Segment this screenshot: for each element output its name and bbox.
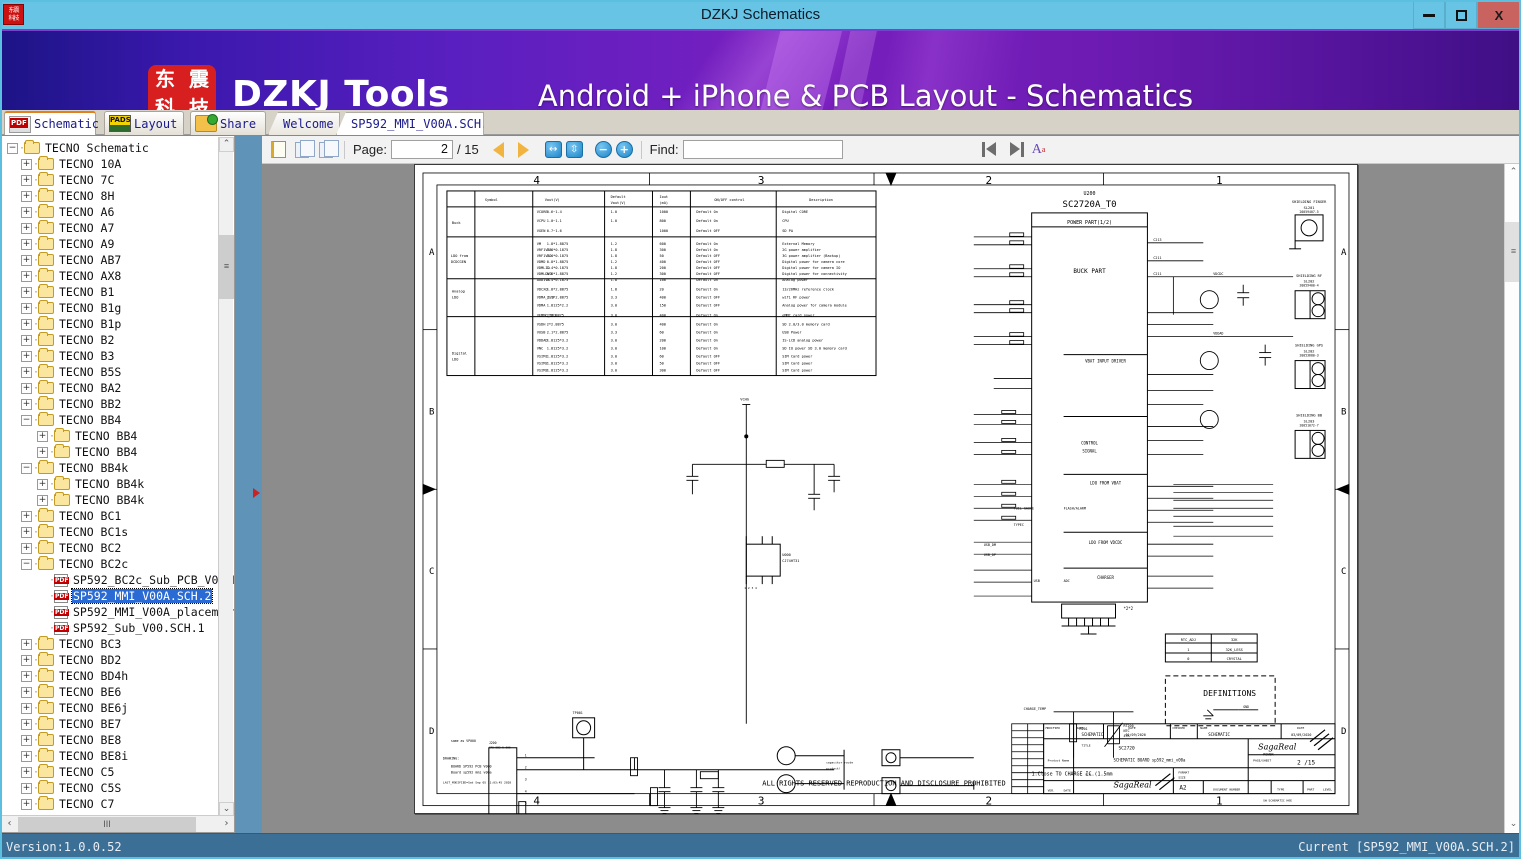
svg-text:TITLE: TITLE [1082, 744, 1091, 748]
folder-icon [38, 398, 54, 410]
svg-text:1.8125*3.2: 1.8125*3.2 [547, 355, 569, 359]
folder-icon [38, 686, 54, 698]
expand-icon[interactable]: + [21, 319, 32, 330]
tree-node[interactable]: +·TECNO BE8 [5, 732, 234, 748]
svg-text:Default On: Default On [696, 210, 718, 214]
tree-node-label: TECNO BD4h [58, 669, 129, 683]
svg-text:SCHEMATIC: SCHEMATIC [1082, 732, 1104, 737]
window-controls: X [1413, 0, 1521, 31]
svg-text:LDO FROM VDCDC: LDO FROM VDCDC [1089, 540, 1123, 545]
svg-text:3.0: 3.0 [611, 323, 617, 327]
pads-icon [109, 115, 131, 132]
tree-node[interactable]: +·TECNO BC3 [5, 636, 234, 652]
svg-text:3.3: 3.3 [611, 296, 617, 300]
expand-icon[interactable]: + [21, 207, 32, 218]
folder-icon [54, 446, 70, 458]
svg-text:1.4*0.1875: 1.4*0.1875 [547, 254, 569, 258]
svg-text:USB_DP: USB_DP [984, 553, 996, 557]
svg-text:1: 1 [1187, 648, 1189, 652]
close-button[interactable]: X [1477, 1, 1521, 29]
tree-node[interactable]: +·TECNO BC2 [5, 540, 234, 556]
expand-icon[interactable]: + [37, 447, 48, 458]
expand-icon[interactable]: + [21, 383, 32, 394]
expand-icon[interactable]: + [21, 271, 32, 282]
svg-text:CF0-5B2-5-000: CF0-5B2-5-000 [489, 746, 511, 750]
svg-text:wifi RF power: wifi RF power [782, 296, 811, 300]
tree-node[interactable]: +·TECNO C5 [5, 764, 234, 780]
svg-text:Default OFF: Default OFF [696, 362, 720, 366]
svg-text:300: 300 [659, 248, 665, 252]
tree-node[interactable]: +·TECNO B2 [5, 332, 234, 348]
svg-text:1.8125*3.2: 1.8125*3.2 [547, 339, 569, 343]
svg-text:1.8*1.8875: 1.8*1.8875 [547, 242, 569, 246]
folder-icon [38, 734, 54, 746]
svg-text:VGEN: VGEN [537, 229, 546, 233]
svg-text:GND: GND [1243, 705, 1249, 709]
tree-node[interactable]: +·TECNO 7C [5, 172, 234, 188]
svg-text:FLASH/ALARM: FLASH/ALARM [1064, 506, 1086, 510]
svg-text:FORMAT: FORMAT [1178, 771, 1189, 775]
svg-text:LDO: LDO [452, 296, 458, 300]
svg-text:A: A [429, 248, 435, 258]
text-select-sup: a [1042, 145, 1046, 154]
svg-text:CONTROL: CONTROL [1081, 440, 1098, 445]
tree-node-label: TECNO C5S [58, 781, 122, 795]
svg-text:LDO FROM VBAT: LDO FROM VBAT [1090, 480, 1122, 485]
svg-text:20051072-7: 20051072-7 [1299, 423, 1318, 427]
tree-node-label: TECNO BB4k [74, 477, 145, 491]
svg-text:Default OFF: Default OFF [696, 296, 720, 300]
svg-text:800: 800 [659, 219, 665, 223]
svg-text:ON/OFF control: ON/OFF control [714, 198, 744, 202]
pdf-icon [9, 116, 31, 133]
svg-text:2*2.8875: 2*2.8875 [547, 323, 564, 327]
svg-text:CRYSTAL: CRYSTAL [1227, 657, 1242, 661]
folder-icon [38, 382, 54, 394]
expand-icon[interactable]: + [21, 671, 32, 682]
folder-icon [38, 526, 54, 538]
svg-text:USB_DM: USB_DM [984, 543, 996, 547]
expand-icon[interactable]: + [21, 223, 32, 234]
svg-text:2*2.8875: 2*2.8875 [547, 314, 564, 318]
svg-text:13/26MHz reference clock: 13/26MHz reference clock [782, 288, 835, 292]
svg-text:100: 100 [659, 278, 665, 282]
tree-scroll-thumb[interactable]: ≡ [219, 235, 234, 299]
folder-icon [38, 190, 54, 202]
svg-text:Iout: Iout [659, 195, 668, 199]
folder-icon [54, 478, 70, 490]
pdf-file-icon [54, 606, 68, 619]
svg-text:Analog power for camera module: Analog power for camera module [782, 304, 847, 308]
tree-node[interactable]: +·TECNO BD4h [5, 668, 234, 684]
expand-icon[interactable]: + [37, 495, 48, 506]
svg-text:2.1*2.8875: 2.1*2.8875 [547, 331, 569, 335]
svg-text:protect!: protect! [826, 767, 841, 771]
svg-text:3: 3 [758, 174, 765, 187]
schematic-page: 4 3 2 1 4 3 2 1 A B C D A B C [414, 164, 1358, 814]
expand-icon[interactable]: + [37, 479, 48, 490]
svg-text:USB Power: USB Power [782, 331, 802, 335]
file-tree[interactable]: −·TECNO Schematic+·TECNO 10A+·TECNO 7C+·… [1, 136, 234, 812]
svg-text:Digital power for connectivity: Digital power for connectivity [782, 272, 847, 276]
tree-node[interactable]: +·TECNO B1g [5, 300, 234, 316]
tree-node-label: TECNO BC1 [58, 509, 122, 523]
tree-node[interactable]: +·TECNO B5S [5, 364, 234, 380]
minimize-button[interactable] [1413, 1, 1445, 29]
svg-text:PART: PART [1307, 788, 1314, 792]
expand-icon[interactable]: + [21, 783, 32, 794]
svg-text:Product Name: Product Name [1048, 759, 1070, 763]
doc-tab-welcome-label: Welcome [283, 117, 334, 131]
maximize-button[interactable] [1445, 1, 1477, 29]
folder-icon [38, 766, 54, 778]
tree-node[interactable]: +·TECNO BB4k [5, 492, 234, 508]
expand-icon[interactable]: + [21, 751, 32, 762]
svg-text:3.0: 3.0 [611, 355, 617, 359]
page-input[interactable]: 2 [391, 140, 453, 159]
viewer-vertical-scrollbar[interactable]: ⌃ ≡ ⌄ [1504, 164, 1521, 833]
expand-icon[interactable]: + [21, 351, 32, 362]
folder-icon [54, 430, 70, 442]
svg-text:400: 400 [659, 260, 665, 264]
svg-text:1.8: 1.8 [611, 248, 617, 252]
expand-icon[interactable]: + [21, 703, 32, 714]
svg-text:SIM Card power: SIM Card power [782, 369, 813, 373]
tab-layout[interactable]: Layout [104, 111, 184, 135]
file-tree-panel: −·TECNO Schematic+·TECNO 10A+·TECNO 7C+·… [0, 136, 235, 833]
svg-text:Digital CORE: Digital CORE [782, 210, 808, 214]
svg-text:VDCDC: VDCDC [1213, 272, 1223, 276]
fit-width-icon[interactable]: ↔ [545, 141, 562, 158]
tree-node[interactable]: +·TECNO BE6j [5, 700, 234, 716]
svg-text:CHARGER: CHARGER [1097, 575, 1114, 580]
status-current-file: Current [SP592_MMI_V00A.SCH.2] [1298, 840, 1515, 854]
tree-node-root[interactable]: −·TECNO Schematic [5, 140, 234, 156]
expand-icon[interactable]: + [21, 255, 32, 266]
scroll-left-icon[interactable]: ‹ [1, 816, 18, 832]
tree-horizontal-scrollbar[interactable]: ‹ III › [1, 815, 235, 832]
svg-text:2.1*2.8875: 2.1*2.8875 [547, 296, 569, 300]
svg-text:1.4*0.1875: 1.4*0.1875 [547, 266, 569, 270]
viewer-scroll-thumb[interactable]: ≡ [1505, 222, 1521, 282]
expand-icon[interactable]: + [21, 543, 32, 554]
previous-page-arrow-icon[interactable] [493, 142, 504, 158]
svg-text:FUEL GAUGE: FUEL GAUGE [1014, 506, 1034, 510]
svg-text:SagaReal: SagaReal [1258, 743, 1297, 752]
svg-text:LEVEL: LEVEL [1323, 788, 1332, 792]
tree-node[interactable]: +·TECNO BB4 [5, 428, 234, 444]
svg-text:1.8: 1.8 [611, 254, 617, 258]
svg-text:1.8125*2.2: 1.8125*2.2 [547, 304, 569, 308]
status-version: Version:1.0.0.52 [6, 840, 122, 854]
tree-node[interactable]: +·TECNO AX8 [5, 268, 234, 284]
viewer-scroll-up-icon[interactable]: ⌃ [1505, 164, 1521, 181]
banner-subtitle-text: Android + iPhone & PCB Layout - Schemati… [328, 79, 1193, 110]
collapse-icon[interactable]: − [21, 559, 32, 570]
tree-node[interactable]: +·TECNO BB4k [5, 476, 234, 492]
svg-text:Default On: Default On [696, 248, 718, 252]
expand-icon[interactable]: + [21, 735, 32, 746]
expand-icon[interactable]: + [21, 191, 32, 202]
tree-node[interactable]: +·TECNO BC1 [5, 508, 234, 524]
tree-node[interactable]: ·SP592_MMI_V00A_placement [5, 604, 234, 620]
svg-text:VER.: VER. [1048, 789, 1055, 793]
svg-text:1.8: 1.8 [611, 288, 617, 292]
svg-text:VDMA: VDMA [537, 304, 546, 308]
collapse-icon[interactable]: − [21, 463, 32, 474]
svg-text:DEFINITIONS: DEFINITIONS [1203, 689, 1256, 698]
tree-node[interactable]: +·TECNO B3 [5, 348, 234, 364]
svg-text:Default On: Default On [696, 347, 718, 351]
tree-node[interactable]: −·TECNO BC2c [5, 556, 234, 572]
svg-text:Default OFF: Default OFF [696, 266, 720, 270]
text-select-icon[interactable]: Aa [1029, 140, 1049, 160]
zoom-in-button[interactable]: + [616, 141, 633, 158]
svg-text:same as VP000: same as VP000 [451, 739, 476, 743]
expand-icon[interactable]: + [21, 719, 32, 730]
expand-icon[interactable]: + [21, 239, 32, 250]
svg-text:CHARGE_TEMP: CHARGE_TEMP [1024, 707, 1046, 711]
expand-icon[interactable]: + [21, 399, 32, 410]
folder-icon [38, 238, 54, 250]
expand-icon[interactable]: + [21, 639, 32, 650]
tree-node-label: TECNO BC2c [58, 557, 129, 571]
folder-icon [38, 670, 54, 682]
tree-node-label: TECNO BB4 [74, 429, 138, 443]
expand-icon[interactable]: + [21, 303, 32, 314]
tree-node[interactable]: +·TECNO C5S [5, 780, 234, 796]
svg-text:Default OFF: Default OFF [696, 260, 720, 264]
svg-text:1.2: 1.2 [611, 272, 617, 276]
tree-node[interactable]: +·TECNO BB4 [5, 444, 234, 460]
tree-node-label: TECNO Schematic [44, 141, 150, 155]
folder-icon [38, 558, 54, 570]
expand-icon[interactable]: + [21, 799, 32, 810]
tab-share-label: Share [220, 117, 256, 131]
svg-text:3.3: 3.3 [611, 331, 617, 335]
svg-text:3.0: 3.0 [611, 369, 617, 373]
collapse-icon[interactable]: − [21, 415, 32, 426]
expand-icon[interactable]: + [21, 367, 32, 378]
svg-text:Default On: Default On [696, 314, 718, 318]
panel-collapse-marker-icon[interactable] [253, 488, 260, 498]
status-bar: Version:1.0.0.52 Current [SP592_MMI_V00A… [0, 833, 1521, 859]
zoom-out-button[interactable]: − [595, 141, 612, 158]
svg-text:Default: Default [611, 195, 626, 199]
tab-schematic[interactable]: Schematic [4, 111, 96, 135]
tree-node-label: TECNO B2 [58, 333, 115, 347]
folder-icon [38, 222, 54, 234]
svg-text:Digital power for camera core: Digital power for camera core [782, 260, 844, 264]
tab-share[interactable]: Share [190, 111, 266, 135]
svg-text:0.8*1.8875: 0.8*1.8875 [547, 260, 569, 264]
tree-node[interactable]: −·TECNO BB4 [5, 412, 234, 428]
tree-node[interactable]: +·TECNO A6 [5, 204, 234, 220]
previous-view-icon[interactable] [292, 140, 312, 160]
svg-text:3.0: 3.0 [611, 362, 617, 366]
svg-text:32K_LESS: 32K_LESS [1226, 648, 1243, 652]
folder-icon [38, 318, 54, 330]
svg-text:B: B [429, 407, 434, 417]
tree-node[interactable]: +·TECNO BE6 [5, 684, 234, 700]
tree-node[interactable]: +·TECNO 8H [5, 188, 234, 204]
collapse-icon[interactable]: − [7, 143, 18, 154]
tree-vertical-scrollbar[interactable]: ⌃ ≡ ⌄ [218, 137, 233, 817]
folder-icon [38, 798, 54, 810]
find-input[interactable] [683, 140, 843, 159]
svg-text:400: 400 [659, 323, 665, 327]
svg-text:SHIELDING GPS: SHIELDING GPS [1295, 344, 1323, 348]
svg-text:4: 4 [525, 790, 527, 794]
svg-text:SD PA: SD PA [782, 229, 794, 233]
svg-text:B: B [1341, 407, 1346, 417]
tree-node[interactable]: −·TECNO BB4k [5, 460, 234, 476]
doc-tab-sp592[interactable]: SP592_MMI_V00A.SCH.2 × [336, 112, 484, 135]
expand-icon[interactable]: + [21, 159, 32, 170]
find-next-icon[interactable] [1005, 140, 1025, 160]
tree-node-label: TECNO BD2 [58, 653, 122, 667]
svg-text:MODIFIED: MODIFIED [1046, 726, 1061, 730]
svg-text:SHIELDING RF: SHIELDING RF [1296, 274, 1322, 278]
svg-text:SD IO power SD 3.0 memory ca: SD IO power SD 3.0 memory card [782, 347, 847, 351]
svg-text:Digital: Digital [452, 352, 467, 356]
svg-text:(mA): (mA) [659, 201, 668, 205]
svg-text:Analog: Analog [452, 290, 465, 294]
page-label: Page: [353, 142, 387, 157]
svg-text:C213: C213 [1153, 238, 1161, 242]
svg-text:2: 2 [525, 766, 527, 770]
svg-text:PAGE/SHEET: PAGE/SHEET [1253, 759, 1271, 763]
svg-text:DRAWING:: DRAWING: [443, 757, 459, 761]
tree-node[interactable]: +·TECNO A9 [5, 236, 234, 252]
svg-text:200: 200 [659, 266, 665, 270]
tree-node[interactable]: +·TECNO 10A [5, 156, 234, 172]
expand-icon[interactable]: + [21, 527, 32, 538]
page-total: / 15 [457, 142, 479, 157]
expand-icon[interactable]: + [37, 431, 48, 442]
find-previous-icon[interactable] [981, 140, 1001, 160]
svg-text:VNC: VNC [537, 347, 543, 351]
copy-page-icon[interactable] [268, 140, 288, 160]
svg-text:1.4*0.1875: 1.4*0.1875 [547, 248, 569, 252]
tree-node[interactable]: ·SP592_Sub_V00.SCH.1 [5, 620, 234, 636]
svg-text:VUSB: VUSB [537, 331, 546, 335]
svg-text:TYPEC: TYPEC [1014, 523, 1024, 527]
folder-icon [38, 334, 54, 346]
svg-text:eMMC card power: eMMC card power [782, 314, 815, 318]
tree-hscroll-thumb[interactable]: III [18, 817, 196, 832]
svg-text:3G power amplifier (Backup): 3G power amplifier (Backup) [782, 254, 840, 258]
svg-text:20059407-5: 20059407-5 [1299, 210, 1318, 214]
tree-node[interactable]: +·TECNO BA2 [5, 380, 234, 396]
tree-node[interactable]: +·TECNO BE8i [5, 748, 234, 764]
pdf-file-icon [54, 590, 68, 603]
tree-node[interactable]: +·TECNO B1p [5, 316, 234, 332]
svg-text:1.8125*3.2: 1.8125*3.2 [547, 347, 569, 351]
tree-node[interactable]: ·SP592_BC2c_Sub_PCB_V00_PI [5, 572, 234, 588]
tree-node-label: TECNO B1 [58, 285, 115, 299]
svg-text:4: 4 [533, 174, 540, 187]
doc-tab-welcome[interactable]: Welcome [268, 112, 340, 135]
svg-text:1.4*0.1875: 1.4*0.1875 [547, 278, 569, 282]
expand-icon[interactable]: + [21, 655, 32, 666]
pdf-toolbar: Page: 2 / 15 ↔ ⇳ − + Find: Aa [262, 136, 1521, 164]
svg-text:1.8125*3.2: 1.8125*3.2 [547, 369, 569, 373]
folder-icon [38, 270, 54, 282]
expand-icon[interactable]: + [21, 335, 32, 346]
svg-text:4: 4 [533, 795, 540, 808]
pdf-viewer[interactable]: 4 3 2 1 4 3 2 1 A B C D A B C [262, 164, 1504, 833]
tree-node[interactable]: +·TECNO AB7 [5, 252, 234, 268]
svg-text:1000: 1000 [659, 229, 668, 233]
viewer-scroll-down-icon[interactable]: ⌄ [1505, 816, 1521, 833]
tree-node[interactable]: +·TECNO B1 [5, 284, 234, 300]
tree-node[interactable]: +·TECNO C7 [5, 796, 234, 812]
tree-node[interactable]: ·SP592_MMI_V00A.SCH.2 [5, 588, 234, 604]
tree-node-label: TECNO BC3 [58, 637, 122, 651]
svg-text:600: 600 [659, 242, 665, 246]
tree-node[interactable]: +·TECNO BB2 [5, 396, 234, 412]
svg-text:CPU: CPU [782, 219, 788, 223]
text-select-glyph: A [1032, 142, 1042, 158]
scroll-right-icon[interactable]: › [218, 816, 235, 832]
svg-text:3.0: 3.0 [611, 339, 617, 343]
svg-text:Board sp592 mmi v00a: Board sp592 mmi v00a [451, 771, 492, 775]
svg-text:1.0: 1.0 [611, 219, 617, 223]
folder-icon [38, 206, 54, 218]
svg-text:J200: J200 [489, 741, 497, 745]
tree-node[interactable]: +·TECNO BD2 [5, 652, 234, 668]
svg-text:SIM Card power: SIM Card power [782, 362, 813, 366]
tree-node[interactable]: +·TECNO BC1s [5, 524, 234, 540]
next-page-arrow-icon[interactable] [518, 142, 529, 158]
svg-text:C211: C211 [1153, 272, 1161, 276]
application-window: 东震科技 DZKJ Schematics X 东 震 科 技 DZKJ Tool… [0, 0, 1521, 859]
tree-node-label: TECNO B1p [58, 317, 122, 331]
svg-text:LDO: LDO [452, 358, 458, 362]
svg-text:3: 3 [758, 795, 765, 808]
tab-strip: Schematic Layout Share Welcome SP592_MMI… [0, 110, 1521, 135]
tree-node[interactable]: +·TECNO A7 [5, 220, 234, 236]
expand-icon[interactable]: + [21, 175, 32, 186]
tree-node[interactable]: +·TECNO BE7 [5, 716, 234, 732]
expand-icon[interactable]: + [21, 287, 32, 298]
tree-node-label: TECNO C7 [58, 797, 115, 811]
expand-icon[interactable]: + [21, 687, 32, 698]
tree-node-label: TECNO BE8i [58, 749, 129, 763]
tree-node-label: TECNO BB4k [58, 461, 129, 475]
tree-node-label: SP592_BC2c_Sub_PCB_V00_PI [72, 573, 235, 587]
svg-text:Buck: Buck [452, 221, 461, 225]
next-view-icon[interactable] [316, 140, 336, 160]
tree-node-label: TECNO BB2 [58, 397, 122, 411]
svg-text:Default OFF: Default OFF [696, 254, 720, 258]
fit-page-icon[interactable]: ⇳ [566, 141, 583, 158]
tree-node-label: TECNO BB4k [74, 493, 145, 507]
tree-node-label: TECNO BE8 [58, 733, 122, 747]
expand-icon[interactable]: + [21, 511, 32, 522]
tree-node-label: TECNO BC2 [58, 541, 122, 555]
expand-icon[interactable]: + [21, 767, 32, 778]
svg-text:ADC: ADC [1064, 579, 1070, 583]
toolbar-separator-2 [641, 141, 642, 159]
close-icon[interactable]: × [501, 118, 511, 131]
svg-text:0.8*1.8875: 0.8*1.8875 [547, 272, 569, 276]
doc-tab-sp592-label: SP592_MMI_V00A.SCH.2 [351, 117, 496, 131]
tree-node-label: SP592_Sub_V00.SCH.1 [72, 621, 206, 635]
tree-node-label: TECNO BC1s [58, 525, 129, 539]
scroll-up-icon[interactable]: ⌃ [219, 137, 234, 152]
